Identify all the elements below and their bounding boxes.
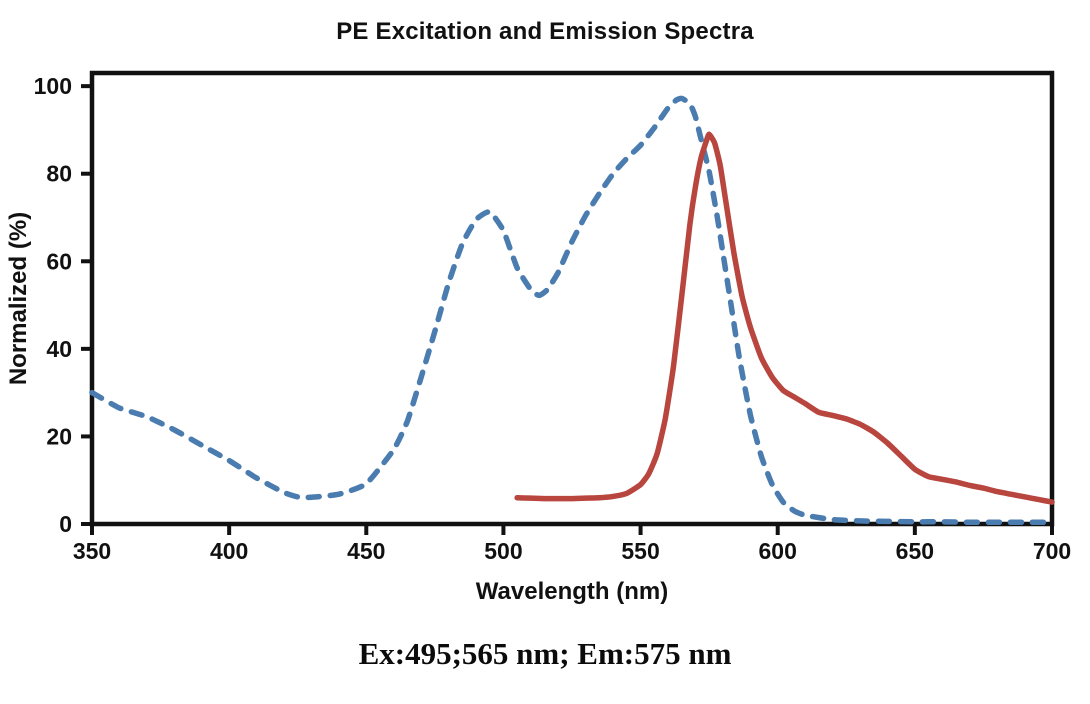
y-axis-tick-label: 80: [46, 161, 72, 187]
x-axis-title: Wavelength (nm): [476, 578, 668, 605]
x-axis-tick-label: 500: [484, 538, 522, 564]
y-axis-tick-label: 20: [46, 423, 72, 449]
x-axis-tick-label: 400: [210, 538, 248, 564]
x-axis-tick-label: 350: [73, 538, 111, 564]
y-axis-title: Normalized (%): [5, 212, 32, 385]
plot-frame: [92, 73, 1052, 524]
x-axis-tick-label: 600: [759, 538, 797, 564]
y-axis-tick-label: 100: [34, 73, 72, 99]
figure-container: PE Excitation and Emission Spectra 35040…: [0, 0, 1090, 704]
page-title: PE Excitation and Emission Spectra: [0, 18, 1090, 46]
x-axis-tick-label: 450: [347, 538, 385, 564]
y-axis-tick-label: 40: [46, 336, 72, 362]
y-axis-tick-label: 0: [59, 511, 72, 537]
x-axis-tick-label: 550: [621, 538, 659, 564]
x-axis-tick-label: 650: [896, 538, 934, 564]
spectra-chart: 350400450500550600650700020406080100Wave…: [0, 55, 1090, 625]
series-line-excitation: [92, 98, 1052, 522]
y-axis-tick-label: 60: [46, 248, 72, 274]
series-line-emission: [517, 134, 1052, 502]
x-axis-tick-label: 700: [1033, 538, 1071, 564]
chart-caption: Ex:495;565 nm; Em:575 nm: [0, 636, 1090, 672]
